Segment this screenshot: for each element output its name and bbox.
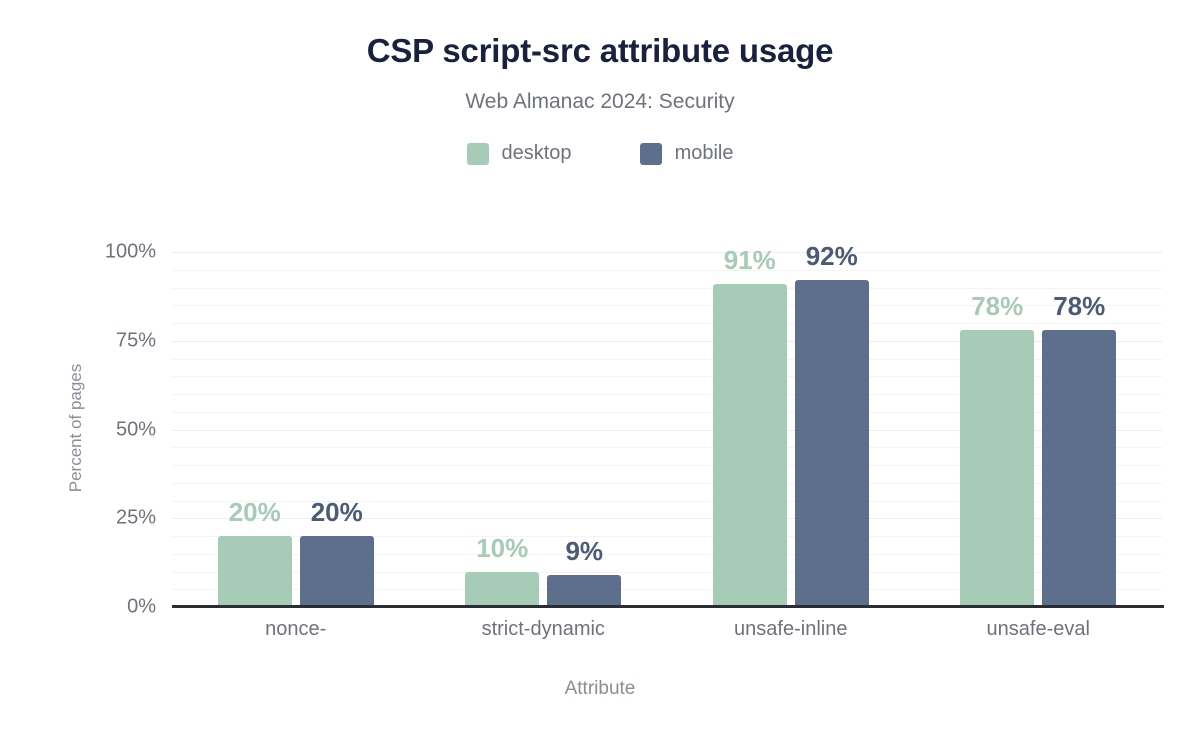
chart-subtitle: Web Almanac 2024: Security xyxy=(0,90,1200,114)
bar-mobile[interactable] xyxy=(1042,330,1116,607)
bar-mobile[interactable] xyxy=(795,280,869,607)
y-axis-tick-label: 25% xyxy=(86,507,156,530)
bar-value-label-mobile: 78% xyxy=(1053,291,1105,322)
legend-swatch-desktop xyxy=(467,143,489,165)
x-axis-tick-label: unsafe-inline xyxy=(734,618,847,641)
y-axis-title: Percent of pages xyxy=(66,328,86,528)
gridline xyxy=(172,252,1162,253)
bar-value-label-mobile: 9% xyxy=(565,536,603,567)
y-axis-tick-label: 100% xyxy=(86,241,156,264)
bar-value-label-desktop: 20% xyxy=(229,497,281,528)
x-axis-title: Attribute xyxy=(0,678,1200,700)
x-axis-line xyxy=(172,605,1164,608)
x-axis-tick-label: unsafe-eval xyxy=(987,618,1090,641)
legend-swatch-mobile xyxy=(640,143,662,165)
bar-desktop[interactable] xyxy=(465,572,539,608)
bar-value-label-mobile: 20% xyxy=(311,497,363,528)
x-axis-tick-label: strict-dynamic xyxy=(482,618,605,641)
bar-value-label-desktop: 91% xyxy=(724,245,776,276)
y-axis-tick-label: 50% xyxy=(86,418,156,441)
bar-desktop[interactable] xyxy=(960,330,1034,607)
chart-legend: desktop mobile xyxy=(0,142,1200,165)
bar-value-label-mobile: 92% xyxy=(806,241,858,272)
legend-label-mobile: mobile xyxy=(675,142,734,165)
legend-label-desktop: desktop xyxy=(502,142,572,165)
y-axis-tick-label: 75% xyxy=(86,329,156,352)
bar-value-label-desktop: 10% xyxy=(476,533,528,564)
chart-title: CSP script-src attribute usage xyxy=(0,32,1200,70)
chart-figure: CSP script-src attribute usage Web Alman… xyxy=(0,0,1200,742)
bar-mobile[interactable] xyxy=(547,575,621,607)
gridline xyxy=(172,323,1162,324)
bar-mobile[interactable] xyxy=(300,536,374,607)
bar-value-label-desktop: 78% xyxy=(971,291,1023,322)
x-axis-tick-label: nonce- xyxy=(265,618,326,641)
y-axis-tick-label: 0% xyxy=(86,596,156,619)
gridline xyxy=(172,270,1162,271)
gridline xyxy=(172,288,1162,289)
legend-item-desktop[interactable]: desktop xyxy=(467,142,572,165)
legend-item-mobile[interactable]: mobile xyxy=(640,142,734,165)
bar-desktop[interactable] xyxy=(218,536,292,607)
bar-desktop[interactable] xyxy=(713,284,787,607)
